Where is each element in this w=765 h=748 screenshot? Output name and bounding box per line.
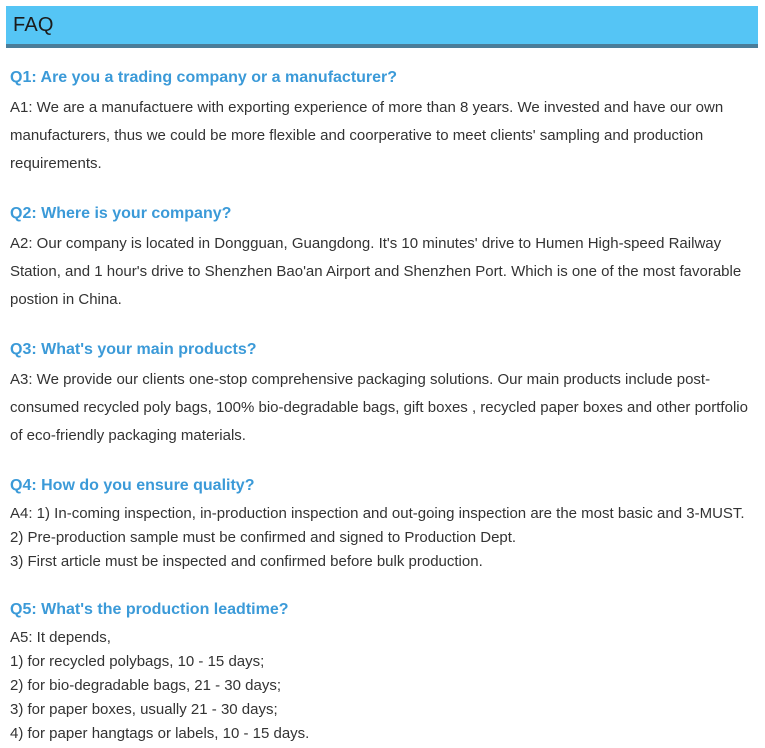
answer-line: A4: 1) In-coming inspection, in-producti… [10, 502, 755, 526]
answer-line: A2: Our company is located in Dongguan, … [10, 230, 755, 314]
faq-answer-1: A1: We are a manufactuere with exporting… [10, 94, 755, 178]
faq-answer-2: A2: Our company is located in Dongguan, … [10, 230, 755, 314]
faq-question-3: Q3: What's your main products? [10, 336, 755, 364]
faq-header-bar: FAQ [6, 6, 758, 48]
faq-page: FAQ Q1: Are you a trading company or a m… [0, 0, 765, 748]
answer-line: 4) for paper hangtags or labels, 10 - 15… [10, 722, 755, 746]
faq-question-2: Q2: Where is your company? [10, 200, 755, 228]
faq-item-4: Q4: How do you ensure quality? A4: 1) In… [10, 472, 755, 574]
answer-line: 2) Pre-production sample must be confirm… [10, 526, 755, 550]
answer-line: 3) for paper boxes, usually 21 - 30 days… [10, 698, 755, 722]
answer-line: 2) for bio-degradable bags, 21 - 30 days… [10, 674, 755, 698]
page-title: FAQ [6, 15, 54, 35]
faq-answer-4: A4: 1) In-coming inspection, in-producti… [10, 502, 755, 574]
faq-answer-5: A5: It depends, 1) for recycled polybags… [10, 626, 755, 746]
faq-item-1: Q1: Are you a trading company or a manuf… [10, 64, 755, 178]
faq-question-4: Q4: How do you ensure quality? [10, 472, 755, 500]
answer-line: A1: We are a manufactuere with exporting… [10, 94, 755, 178]
answer-line: A5: It depends, [10, 626, 755, 650]
faq-item-5: Q5: What's the production leadtime? A5: … [10, 596, 755, 746]
answer-line: A3: We provide our clients one-stop comp… [10, 366, 755, 450]
faq-item-2: Q2: Where is your company? A2: Our compa… [10, 200, 755, 314]
answer-line: 1) for recycled polybags, 10 - 15 days; [10, 650, 755, 674]
faq-content: Q1: Are you a trading company or a manuf… [10, 64, 755, 746]
answer-line: 3) First article must be inspected and c… [10, 550, 755, 574]
faq-question-5: Q5: What's the production leadtime? [10, 596, 755, 624]
faq-item-3: Q3: What's your main products? A3: We pr… [10, 336, 755, 450]
faq-answer-3: A3: We provide our clients one-stop comp… [10, 366, 755, 450]
faq-question-1: Q1: Are you a trading company or a manuf… [10, 64, 755, 92]
